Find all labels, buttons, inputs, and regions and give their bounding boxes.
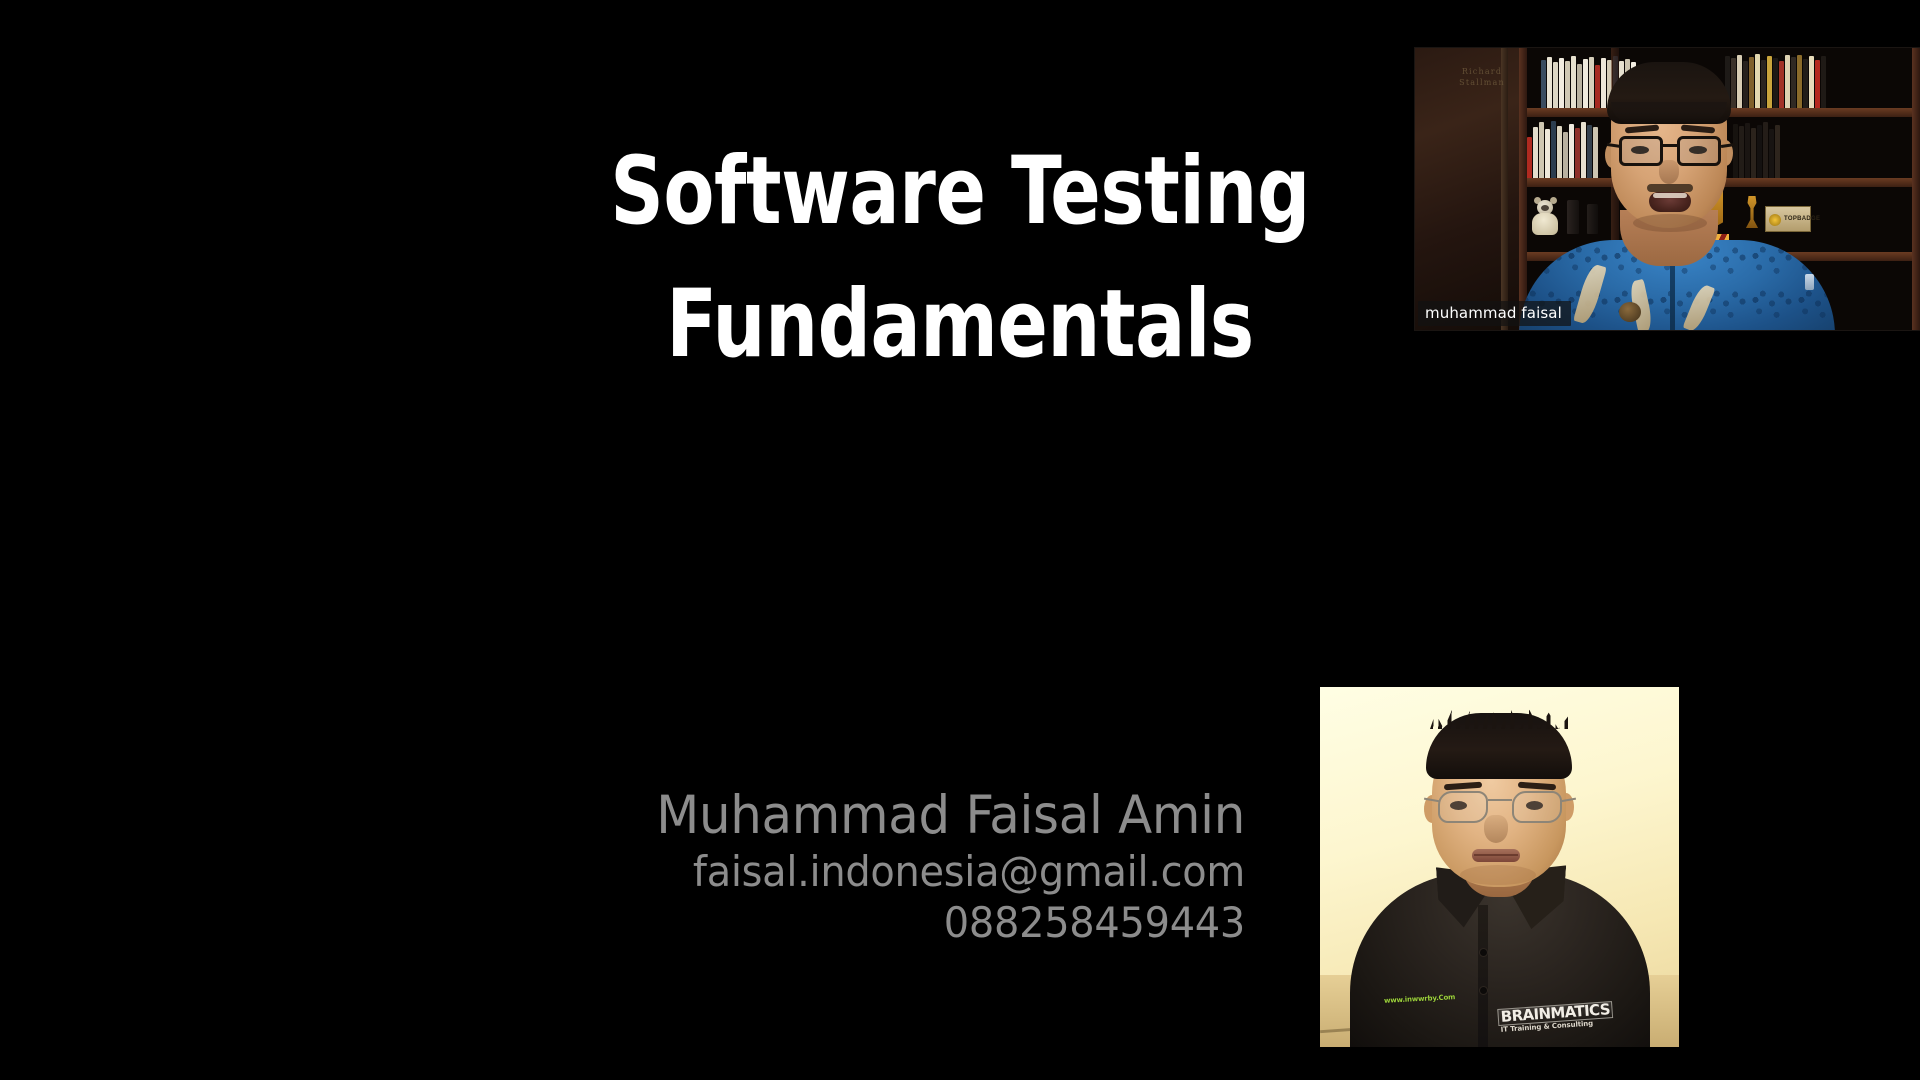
portrait-eyeglasses-lens-right	[1512, 791, 1562, 823]
portrait-eyeglasses-lens-left	[1438, 791, 1488, 823]
portrait-shirt-button-2	[1480, 987, 1487, 994]
batik-motif-knot	[1619, 302, 1641, 322]
participant-chin-shadow	[1633, 214, 1707, 232]
portrait-shirt-placket	[1478, 905, 1488, 1047]
participant-shirt-badge	[1805, 274, 1814, 290]
participant-nose	[1659, 160, 1679, 184]
webcam-participant-figure	[1415, 48, 1920, 330]
presenter-info: Muhammad Faisal Amin faisal.indonesia@gm…	[400, 785, 1245, 948]
participant-teeth	[1653, 193, 1687, 198]
portrait-eyeglasses-bridge	[1488, 799, 1512, 801]
portrait-shirt-button-1	[1480, 949, 1487, 956]
eyeglasses-lens-right	[1677, 136, 1721, 166]
portrait-scene: www.inwwrby.Com BRAINMATICS IT Training …	[1320, 687, 1679, 1047]
participant-mustache	[1647, 184, 1693, 192]
presentation-slide: Software Testing Fundamentals Muhammad F…	[0, 0, 1920, 1080]
portrait-chin-shadow	[1460, 865, 1536, 885]
presenter-portrait-photo: www.inwwrby.Com BRAINMATICS IT Training …	[1320, 687, 1679, 1047]
eyeglasses-bridge	[1663, 144, 1677, 147]
presenter-email: faisal.indonesia@gmail.com	[442, 846, 1245, 897]
presenter-name: Muhammad Faisal Amin	[451, 785, 1245, 846]
webcam-video-overlay[interactable]: Richard Stallman	[1415, 48, 1920, 330]
eyeglasses-lens-left	[1619, 136, 1663, 166]
portrait-nose	[1484, 815, 1508, 843]
participant-hair	[1607, 62, 1731, 124]
webcam-participant-name-label: muhammad faisal	[1418, 301, 1571, 326]
portrait-lip-line	[1474, 854, 1518, 856]
presenter-phone: 088258459443	[442, 897, 1245, 948]
